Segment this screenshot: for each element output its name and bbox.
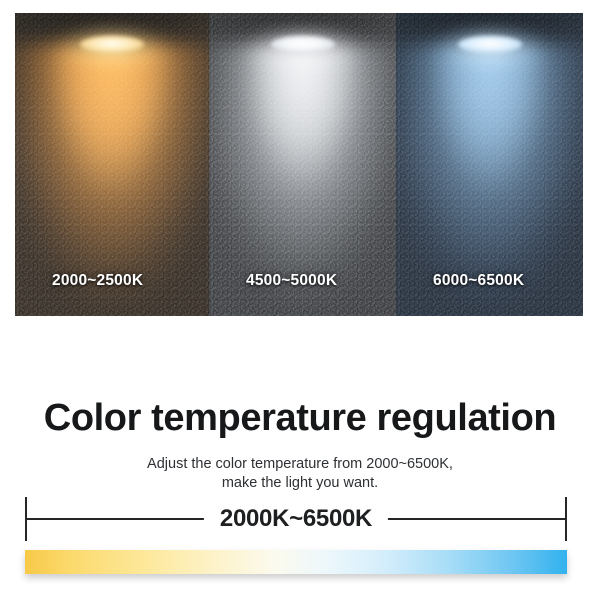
- panel-label-cool: 6000~6500K: [433, 272, 524, 290]
- downlight-fixture-icon-warm: [80, 36, 144, 53]
- panel-label-neutral: 4500~5000K: [246, 272, 337, 290]
- photo-panel-cool: 6000~6500K: [396, 13, 583, 316]
- panel-label-warm: 2000~2500K: [52, 272, 143, 290]
- downlight-fixture-icon-neutral: [271, 36, 335, 53]
- measure-tick-left: [25, 497, 27, 541]
- cct-range-label: 2000K~6500K: [204, 507, 388, 531]
- measure-tick-right: [565, 497, 567, 541]
- page-subtitle-line-2: make the light you want.: [0, 474, 600, 493]
- downlight-fixture-icon-cool: [458, 36, 522, 53]
- page-title: Color temperature regulation: [0, 398, 600, 439]
- color-temperature-photo-strip: 2000~2500K 4500~5000K 6000~6500K: [15, 13, 583, 316]
- cct-range-measure: 2000K~6500K: [25, 497, 567, 541]
- page-subtitle-line-1: Adjust the color temperature from 2000~6…: [0, 455, 600, 474]
- color-temperature-gradient-bar: [25, 550, 567, 574]
- photo-panel-neutral: 4500~5000K: [209, 13, 396, 316]
- photo-panel-warm: 2000~2500K: [15, 13, 209, 316]
- page-subtitle: Adjust the color temperature from 2000~6…: [0, 455, 600, 494]
